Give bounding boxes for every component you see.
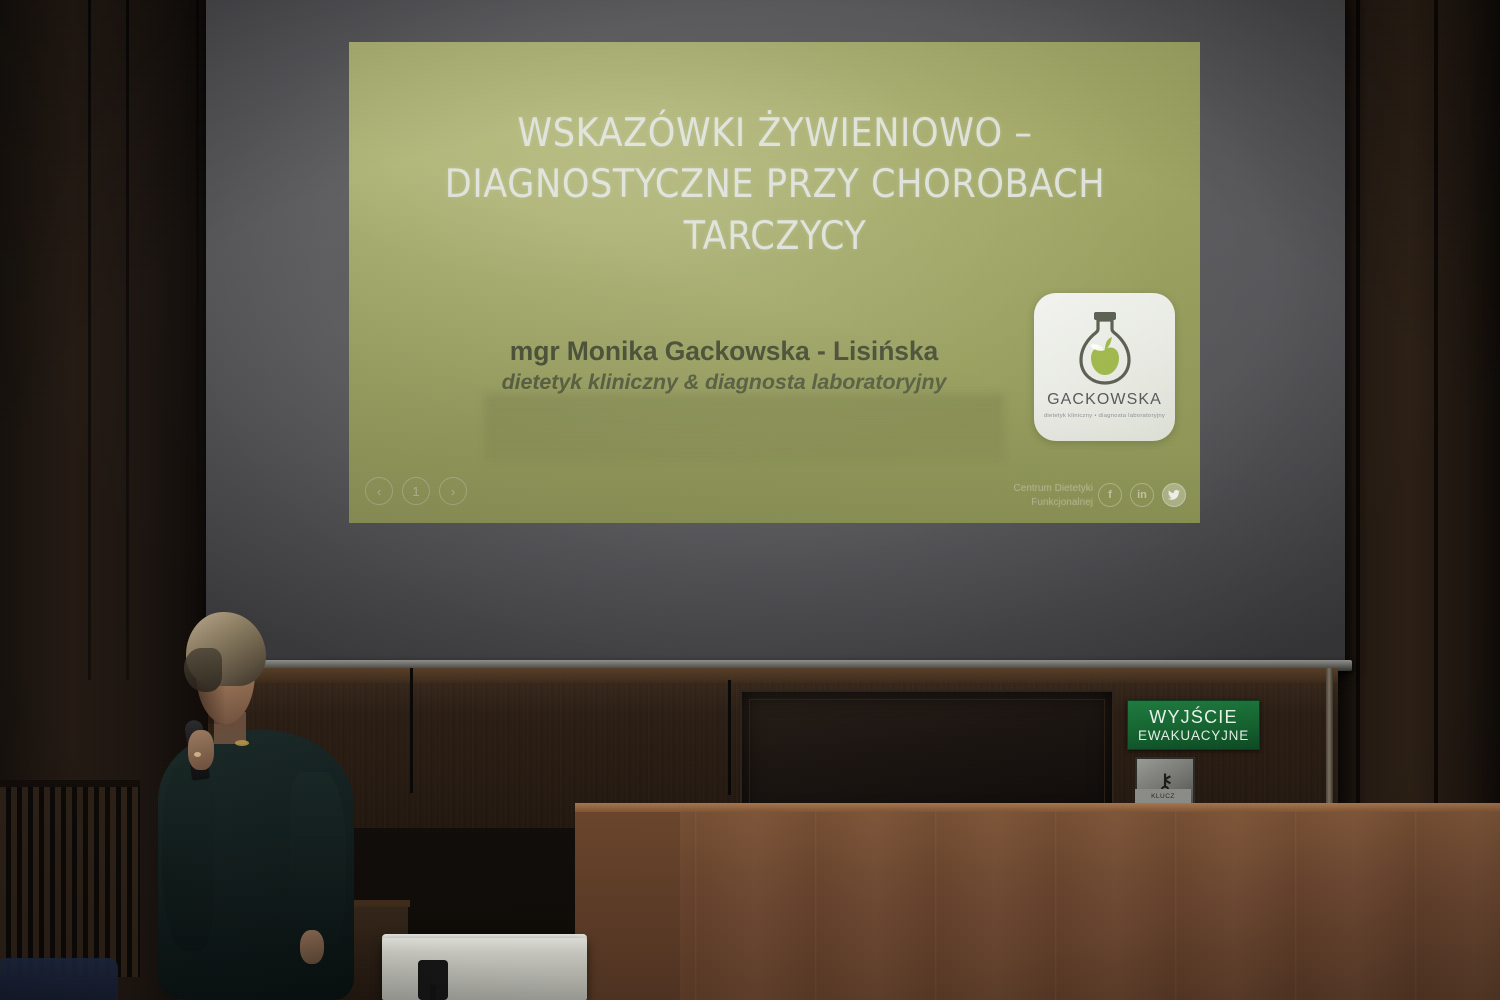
emergency-exit-sign: WYJŚCIE EWAKUACYJNE [1127, 700, 1260, 750]
facebook-icon[interactable]: f [1098, 483, 1122, 507]
speaker-other-hand [300, 930, 324, 964]
exit-sign-line-1: WYJŚCIE [1149, 708, 1237, 726]
brand-line-1: Centrum Dietetyki [1014, 482, 1093, 496]
slide-shadow-patch [484, 394, 1004, 462]
key-box-label: KLUCZ [1135, 789, 1191, 803]
wall-pipe [1326, 668, 1333, 813]
exit-sign-line-2: EWAKUACYJNE [1138, 729, 1249, 743]
brand-line-2: Funkcjonalnej [1014, 496, 1093, 510]
speaker-ring [194, 752, 201, 757]
speaker-hair-shadow [184, 648, 222, 692]
twitter-icon[interactable] [1162, 483, 1186, 507]
slide-social-links[interactable]: f in [1098, 483, 1186, 507]
slide-page-indicator[interactable]: 1 [402, 477, 430, 505]
podium-front-panel [575, 805, 1500, 1000]
slide-navigation[interactable]: ‹ 1 › [365, 477, 467, 505]
jar-with-apple-icon [1069, 309, 1141, 389]
presenter-name: mgr Monika Gackowska - Lisińska [399, 336, 1049, 366]
projector-cable-tail [430, 985, 436, 1000]
speaker-necklace [235, 740, 249, 746]
wood-trim-strip [208, 668, 1338, 683]
logo-tagline: dietetyk kliniczny • diagnosta laborator… [1034, 413, 1175, 418]
slide-title-line-3: TARCZYCY [397, 211, 1153, 262]
slide-title-line-2: DIAGNOSTYCZNE PRZY CHOROBACH [397, 159, 1153, 210]
radiator-slat-panel [0, 787, 140, 977]
slide-title-line-1: WSKAZÓWKI ŻYWIENIOWO – [397, 108, 1153, 159]
presenter-block: mgr Monika Gackowska - Lisińska dietetyk… [399, 336, 1049, 395]
podium-top-edge [575, 803, 1500, 812]
prev-slide-icon[interactable]: ‹ [365, 477, 393, 505]
speaker-hand-holding-mic [188, 730, 214, 770]
projected-slide: WSKAZÓWKI ŻYWIENIOWO – DIAGNOSTYCZNE PRZ… [349, 42, 1200, 523]
podium-side-step [575, 805, 680, 1000]
blackboard-frame [749, 699, 1105, 813]
projector [382, 938, 587, 1000]
logo-wordmark: GACKOWSKA [1034, 391, 1175, 409]
speaker-left-arm [162, 762, 214, 952]
speaker-person [140, 612, 370, 1000]
linkedin-icon[interactable]: in [1130, 483, 1154, 507]
next-slide-icon[interactable]: › [439, 477, 467, 505]
twitter-bird-glyph [1168, 490, 1180, 500]
wall-cable-secondary [728, 680, 731, 795]
presentation-photo-scene: WSKAZÓWKI ŻYWIENIOWO – DIAGNOSTYCZNE PRZ… [0, 0, 1500, 1000]
gackowska-logo: GACKOWSKA dietetyk kliniczny • diagnosta… [1034, 293, 1175, 441]
wall-cable [410, 668, 413, 793]
slide-title: WSKAZÓWKI ŻYWIENIOWO – DIAGNOSTYCZNE PRZ… [397, 108, 1153, 262]
presenter-role: dietetyk kliniczny & diagnosta laborator… [399, 370, 1049, 395]
slide-footer-brand: Centrum Dietetyki Funkcjonalnej [1014, 482, 1093, 509]
blue-seat [0, 958, 118, 1000]
